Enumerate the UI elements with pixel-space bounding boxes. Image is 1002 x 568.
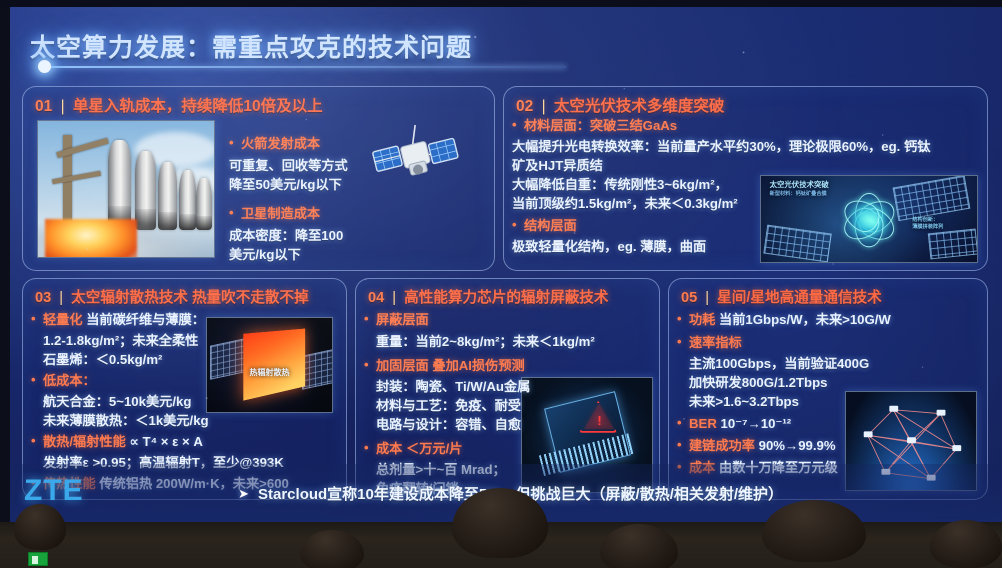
footer-arrow-icon: ➤ [238, 486, 249, 502]
panel-02-separator: | [538, 98, 550, 115]
panel-03-bullet-3-label: 散热/辐射性能 ∝ T⁴ × ε × A [31, 433, 289, 451]
projected-slide: 太空算力发展：需重点攻克的技术问题 01 | 单星入轨成本，持续降低10倍及以上 [8, 6, 1002, 522]
panel-02-space-pv: 02 | 太空光伏技术多维度突破 材料层面：突破三结GaAs 大幅提升光电转换效… [503, 86, 988, 271]
panel-01-bullet-1-line-2: 降至50美元/kg以下 [229, 175, 348, 194]
panel-05-bullet-4-label: 建链成功率 90%→99.9% [677, 437, 891, 455]
panel-03-bullet-3-key: 散热/辐射性能 [43, 434, 126, 449]
slide-title-row: 太空算力发展：需重点攻克的技术问题 [30, 28, 730, 70]
room-wall-left [0, 0, 10, 568]
panel-05-bullet-1-inline: 当前1Gbps/W，未来>10G/W [719, 312, 891, 327]
audience-head [14, 504, 66, 550]
rocket-flame [45, 219, 137, 258]
page-title: 太空算力发展：需重点攻克的技术问题 [30, 28, 730, 64]
panel-05-number: 05 [681, 290, 697, 306]
panel-04-bullet-2-label: 加固层面 叠加AI损伤预测 [364, 357, 595, 375]
panel-03-bullet-1-line-2: 石墨烯：＜0.5kg/m² [31, 350, 289, 369]
panel-02-bullet-1-line-1: 大幅提升光电转换效率：当前量产水平约30%，理论极限60%，eg. 钙钛 [512, 137, 982, 156]
panel-04-separator: | [388, 290, 400, 306]
panel-05-bullet-4-inline: 90%→99.9% [759, 438, 836, 453]
panel-03-bullet-2-line-2: 未来薄膜散热：＜1k美元/kg [31, 411, 289, 430]
panel-04-bullet-2-line-1: 封装：陶瓷、Ti/W/Au金属 [364, 377, 595, 396]
panel-04-number: 04 [368, 290, 384, 306]
panel-05-bullet-1-label: 功耗 当前1Gbps/W，未来>10G/W [677, 311, 891, 329]
panel-04-bullet-3-label: 成本 ＜万元/片 [364, 440, 595, 458]
room-wall-top [0, 0, 1002, 7]
audience-head [762, 500, 866, 562]
panel-05-title: 星间/星地高通量通信技术 [717, 290, 882, 306]
panel-03-bullet-1-key: 轻量化 [43, 312, 83, 327]
panel-05-bullet-2-line-3: 未来>1.6~3.2Tbps [677, 392, 891, 411]
title-underline [46, 66, 566, 68]
rocket-booster [135, 151, 156, 230]
satellite-svg [351, 119, 471, 197]
panel-01-bullet-1: 火箭发射成本 可重复、回收等方式 降至50美元/kg以下 [229, 135, 348, 194]
panel-04-header: 04 | 高性能算力芯片的辐射屏蔽技术 [368, 286, 608, 307]
panel-05-bullet-2-line-1: 主流100Gbps，当前验证400G [677, 354, 891, 373]
panel-02-bullet-1-label: 材料层面：突破三结GaAs [512, 117, 982, 135]
panel-04-bullet-2-line-2: 材料与工艺：免疫、耐受 [364, 396, 595, 415]
panel-01-header: 01 | 单星入轨成本，持续降低10倍及以上 [35, 94, 323, 116]
panel-05-bullet-3-key: BER [689, 416, 717, 431]
panel-04-bullet-2-line-3: 电路与设计：容错、自愈 [364, 415, 595, 434]
panel-04-bullet-1-label: 屏蔽层面 [364, 311, 595, 329]
panel-05-bullet-3-label: BER 10⁻⁷→10⁻¹² [677, 415, 891, 433]
panel-03-bullet-1-label: 轻量化 当前碳纤维与薄膜： [31, 311, 289, 329]
panel-04-title: 高性能算力芯片的辐射屏蔽技术 [404, 290, 608, 306]
panel-05-bullet-2-line-2: 加快研发800G/1.2Tbps [677, 373, 891, 392]
satellite-illustration-icon [351, 119, 471, 197]
presentation-photo: 太空算力发展：需重点攻克的技术问题 01 | 单星入轨成本，持续降低10倍及以上 [0, 0, 1002, 568]
panel-02-number: 02 [516, 98, 533, 115]
warning-exclamation: ! [597, 413, 601, 428]
title-glow-dot-icon [38, 60, 51, 73]
panel-03-bullet-2-label: 低成本： [31, 372, 289, 390]
panel-03-bullet-2-line-1: 航天合金：5~10k美元/kg [31, 392, 289, 411]
panel-01-bullet-1-line-1: 可重复、回收等方式 [229, 156, 348, 175]
panel-03-bullet-1-inline: 当前碳纤维与薄膜： [86, 312, 205, 327]
panel-05-bullet-1-key: 功耗 [689, 312, 715, 327]
rocket-booster [158, 162, 177, 230]
panel-01-launch-cost: 01 | 单星入轨成本，持续降低10倍及以上 [22, 86, 495, 271]
pv-image-subcaption: 新型材料：钙钛矿叠合膜 [770, 190, 827, 197]
panel-01-separator: | [57, 98, 69, 115]
panel-05-bullet-4-key: 建链成功率 [689, 438, 755, 453]
panel-05-bullet-2-label: 速率指标 [677, 334, 891, 352]
panel-03-bullet-1-line-1: 1.2-1.8kg/m²；未来全柔性 [31, 331, 289, 350]
zte-logo: ZTE [24, 474, 84, 508]
rocket-booster [108, 140, 131, 230]
panel-03-number: 03 [35, 290, 51, 306]
audience-head [930, 520, 1002, 568]
panel-01-bullet-2-line-1: 成本密度：降至100 [229, 226, 343, 245]
panel-05-header: 05 | 星间/星地高通量通信技术 [681, 286, 882, 307]
panel-03-title: 太空辐射散热技术 热量吹不走散不掉 [71, 290, 309, 306]
panel-05-separator: | [701, 290, 713, 306]
panel-04-bullet-1-line-1: 重量：当前2~8kg/m²；未来＜1kg/m² [364, 332, 595, 351]
exit-sign [28, 552, 48, 566]
panel-01-bullet-2-line-2: 美元/kg以下 [229, 245, 343, 264]
pv-flower-structure [821, 183, 916, 252]
panel-03-header: 03 | 太空辐射散热技术 热量吹不走散不掉 [35, 286, 309, 307]
panel-02-header: 02 | 太空光伏技术多维度突破 [516, 94, 724, 116]
panel-02-bullet-1-line-2: 矿及HJT异质结 [512, 156, 982, 175]
panel-01-bullet-2-label: 卫星制造成本 [229, 205, 343, 223]
panel-01-bullet-2: 卫星制造成本 成本密度：降至100 美元/kg以下 [229, 205, 343, 264]
panel-01-bullet-1-label: 火箭发射成本 [229, 135, 348, 153]
panel-03-bullet-3-inline: ∝ T⁴ × ε × A [129, 434, 202, 449]
panel-01-number: 01 [35, 98, 52, 115]
space-pv-flower-image: 太空光伏技术突破 新型材料：钙钛矿叠合膜 结构创新： 薄膜拼装阵列 [760, 175, 978, 263]
solar-wing [302, 348, 333, 389]
solar-grid-panel [928, 229, 978, 260]
panel-01-title: 单星入轨成本，持续降低10倍及以上 [73, 98, 323, 115]
panel-03-separator: | [55, 290, 67, 306]
panel-05-content: 功耗 当前1Gbps/W，未来>10G/W 速率指标 主流100Gbps，当前验… [677, 311, 891, 477]
rocket-launch-photo [37, 120, 215, 258]
pv-image-note: 结构创新： 薄膜拼装阵列 [912, 216, 943, 230]
panel-02-title: 太空光伏技术多维度突破 [554, 98, 725, 115]
panel-05-bullet-3-inline: 10⁻⁷→10⁻¹² [721, 416, 792, 431]
